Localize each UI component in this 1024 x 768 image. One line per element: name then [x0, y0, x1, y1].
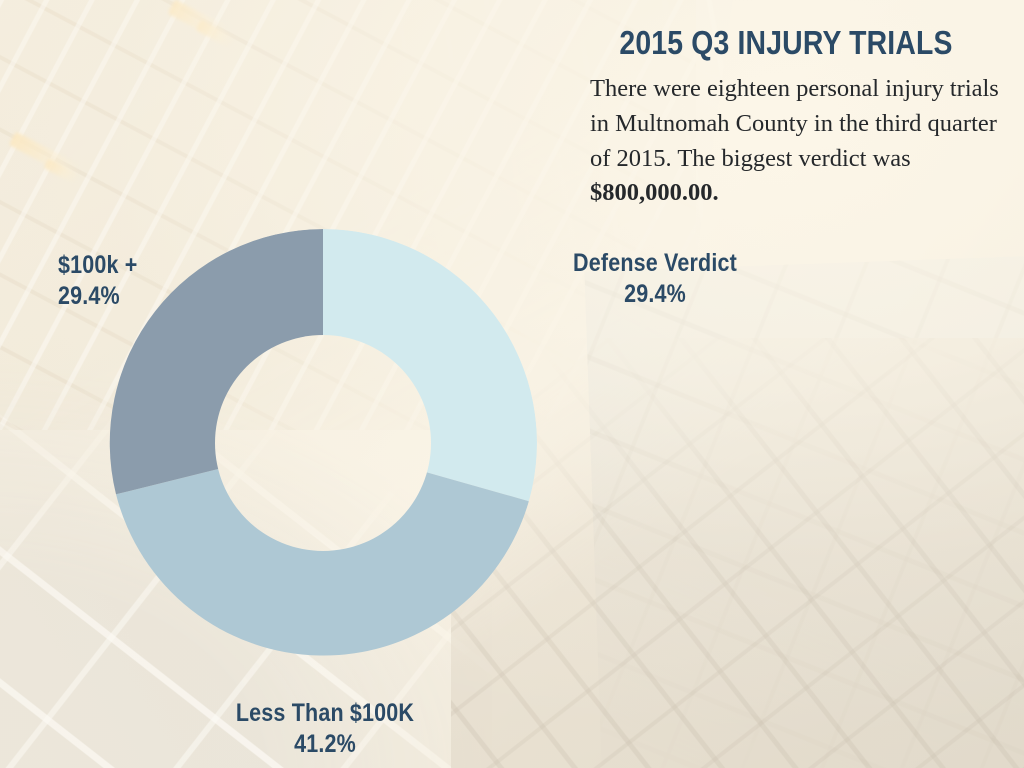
slice-label-defense-verdict-pct: 29.4%: [556, 279, 754, 310]
slice-label-100k-plus: $100k + 29.4%: [58, 250, 247, 312]
slice-label-defense-verdict: Defense Verdict 29.4%: [556, 248, 754, 310]
slice-label-less-than-100k-pct: 41.2%: [205, 729, 446, 760]
summary-text: There were eighteen personal injury tria…: [590, 75, 999, 172]
summary-paragraph: There were eighteen personal injury tria…: [590, 72, 1008, 211]
slice-label-defense-verdict-name: Defense Verdict: [573, 249, 737, 277]
page-title: 2015 Q3 Injury Trials: [592, 26, 981, 60]
slice-label-100k-plus-name: $100k +: [58, 251, 138, 279]
biggest-verdict-amount: $800,000.00.: [590, 179, 719, 206]
slice-label-less-than-100k: Less Than $100K 41.2%: [205, 698, 446, 760]
slice-label-less-than-100k-name: Less Than $100K: [236, 699, 414, 727]
slice-label-100k-plus-pct: 29.4%: [58, 281, 247, 312]
infographic-canvas: 2015 Q3 Injury Trials There were eightee…: [0, 0, 1024, 768]
